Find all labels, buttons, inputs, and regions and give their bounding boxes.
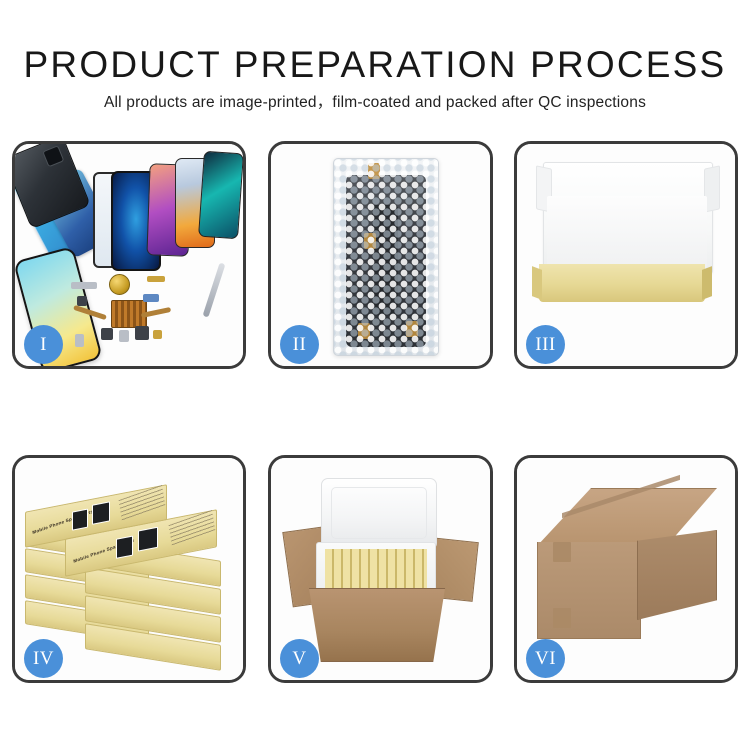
speaker-component-icon <box>109 274 130 295</box>
packed-yellow-boxes <box>325 549 427 591</box>
process-step-1[interactable]: I <box>12 141 246 369</box>
process-step-2[interactable]: II <box>268 141 493 369</box>
box-stack: Mobile Phone Spare Parts Mobile Phone Sp… <box>23 484 229 664</box>
step-badge-3: III <box>526 325 565 364</box>
part-small-4 <box>153 330 162 339</box>
process-step-6[interactable]: VI <box>514 455 738 683</box>
part-small-2 <box>119 330 129 342</box>
step-badge-1: I <box>24 325 63 364</box>
step-badge-2: II <box>280 325 319 364</box>
carton-side-face <box>637 530 717 620</box>
yellow-box-base <box>539 264 705 302</box>
carton-tape-upper <box>553 542 571 562</box>
box-spec-text-back <box>119 485 166 521</box>
phone-teal-gradient <box>198 151 243 240</box>
box-window-front-2 <box>138 527 158 552</box>
carton-tape-lower <box>553 608 571 628</box>
part-small-1 <box>101 328 113 340</box>
part-small-5 <box>75 334 84 347</box>
foam-sheet <box>547 196 707 268</box>
styrofoam-lid <box>321 478 437 550</box>
step-badge-6: VI <box>526 639 565 678</box>
part-connector-blue <box>143 294 159 302</box>
bubble-texture-front <box>334 159 438 355</box>
box-spec-text-front <box>169 510 216 546</box>
process-step-5[interactable]: V <box>268 455 493 683</box>
box-window-back-2 <box>92 501 110 524</box>
box-window-back-1 <box>72 509 88 531</box>
carton-body <box>303 588 451 662</box>
bubble-wrap-bag <box>333 158 439 356</box>
repair-tweezers-icon <box>202 262 225 317</box>
step-badge-5: V <box>280 639 319 678</box>
part-bracket-2 <box>77 296 87 306</box>
box-window-front-1 <box>116 536 133 559</box>
part-small-3 <box>135 326 149 340</box>
product-preparation-infographic: PRODUCT PREPARATION PROCESS All products… <box>0 0 750 750</box>
step-badge-4: IV <box>24 639 63 678</box>
part-bracket-1 <box>71 282 97 289</box>
part-flex-gold <box>147 276 165 282</box>
process-step-grid: I II <box>0 0 750 750</box>
process-step-3[interactable]: III <box>514 141 738 369</box>
process-step-4[interactable]: Mobile Phone Spare Parts Mobile Phone Sp… <box>12 455 246 683</box>
